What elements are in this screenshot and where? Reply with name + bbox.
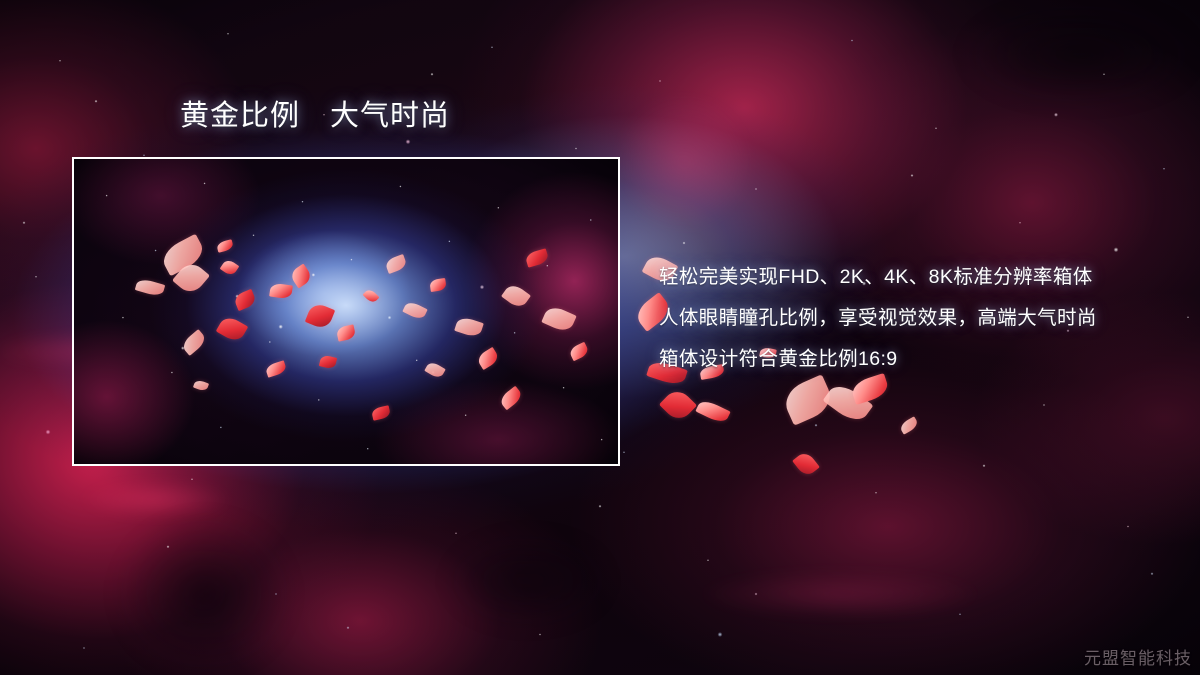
description-line: 箱体设计符合黄金比例16:9 xyxy=(659,339,1159,380)
panel-starfield xyxy=(74,159,618,464)
presentation-slide: 黄金比例 大气时尚 轻松完美实现FHD、2K、4K、8K标准分辨率箱体 人体眼睛… xyxy=(0,0,1200,675)
description-line: 人体眼睛瞳孔比例，享受视觉效果，高端大气时尚 xyxy=(659,298,1159,339)
page-title: 黄金比例 大气时尚 xyxy=(180,102,450,131)
feature-description: 轻松完美实现FHD、2K、4K、8K标准分辨率箱体 人体眼睛瞳孔比例，享受视觉效… xyxy=(659,257,1159,380)
description-line: 轻松完美实现FHD、2K、4K、8K标准分辨率箱体 xyxy=(659,257,1159,298)
brand-watermark: 元盟智能科技 xyxy=(1084,644,1192,669)
framed-image-panel xyxy=(72,157,620,466)
